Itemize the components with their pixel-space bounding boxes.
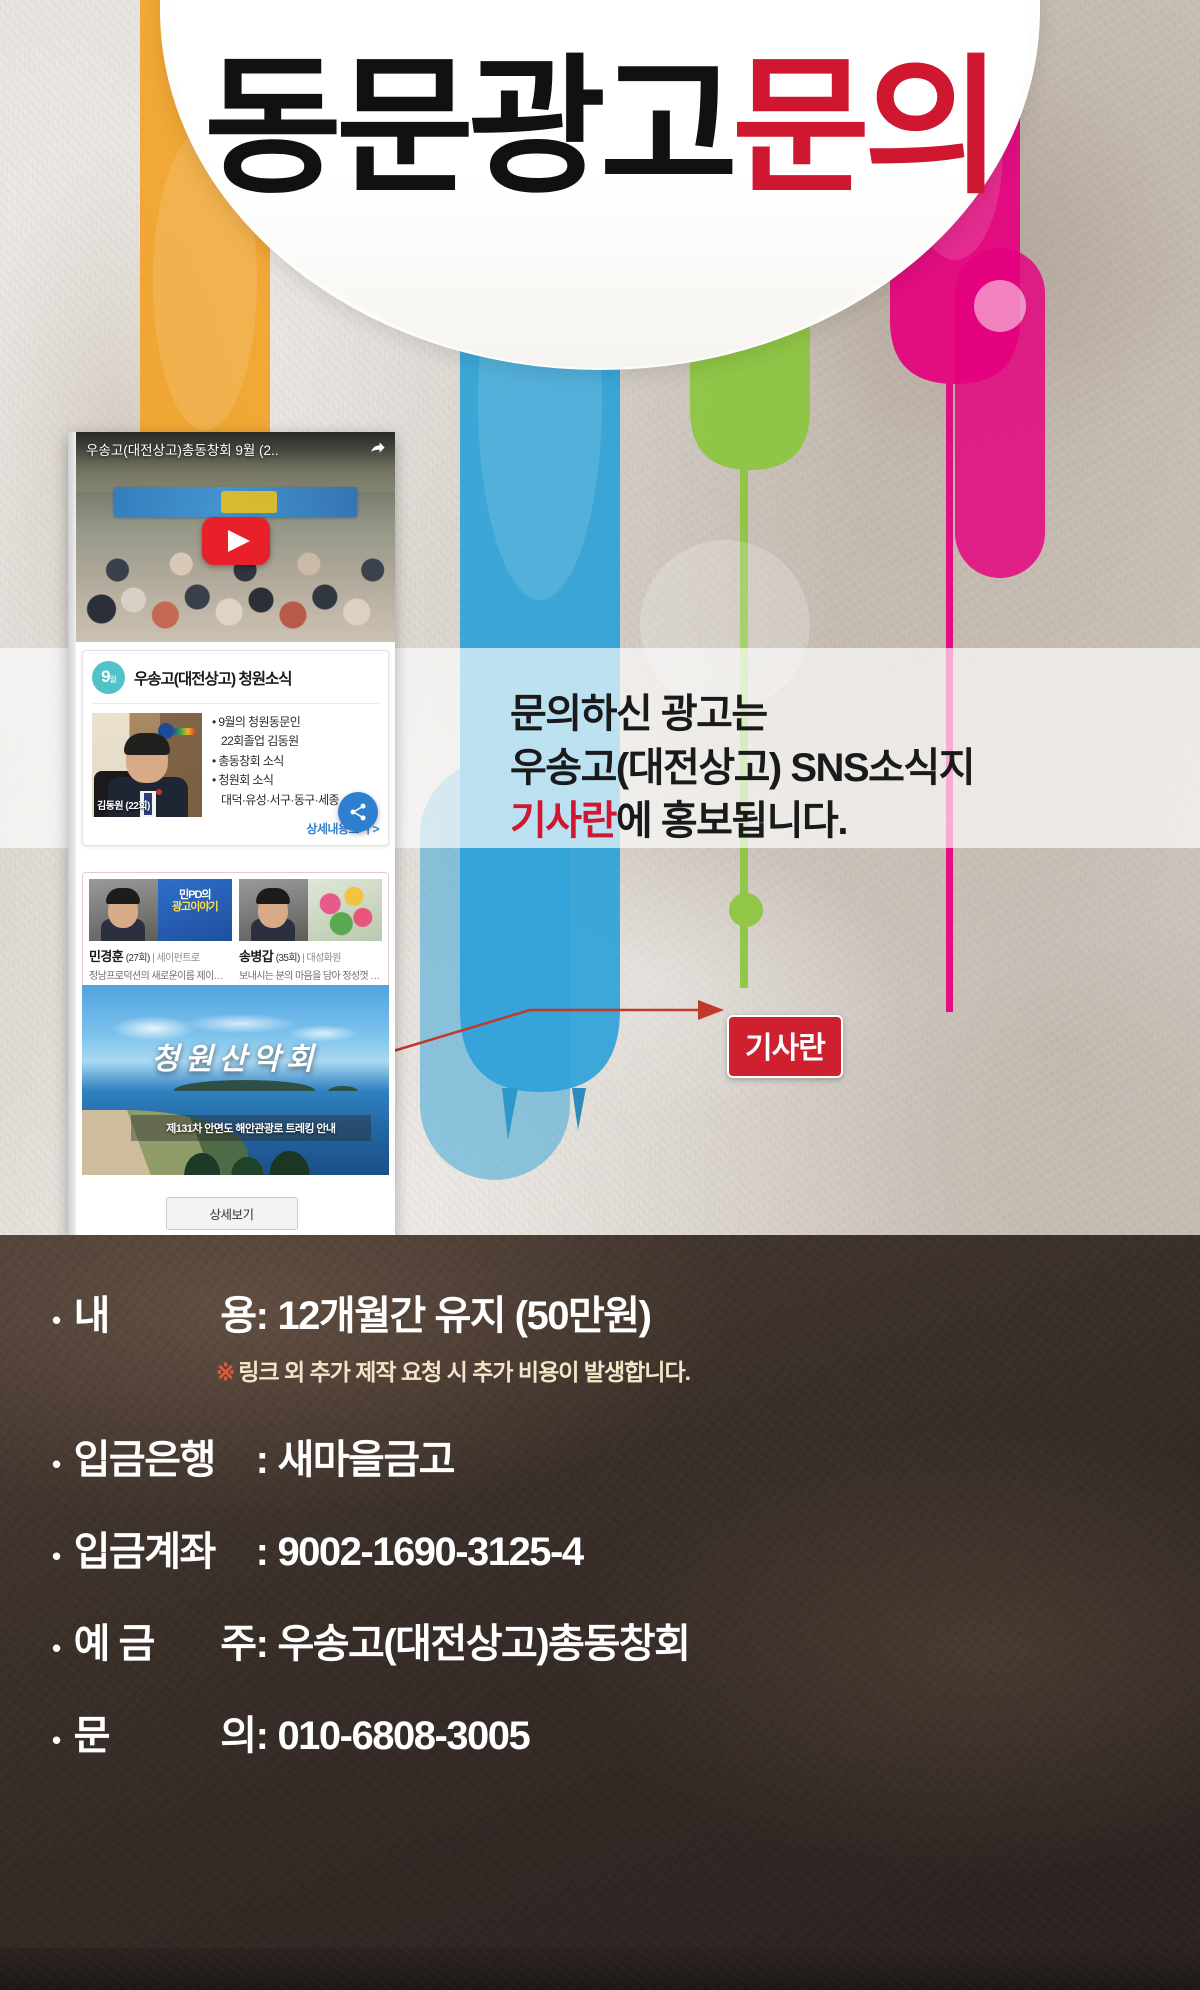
person-hair-shape	[106, 888, 140, 904]
lapel-pin-icon	[156, 789, 162, 795]
footer-info-list: • 내 용 : 12개월간 유지 (50만원) ※링크 외 추가 제작 요청 시…	[52, 1283, 1160, 1795]
video-stage-banner	[114, 487, 356, 517]
info-colon: :	[256, 1622, 268, 1667]
detail-view-button[interactable]: 상세보기	[166, 1197, 298, 1230]
more-link[interactable]: 상세내용보기 >	[92, 820, 379, 837]
share-arrow-icon	[369, 439, 386, 456]
person-name-line: 송병갑 (35회) | 대성화원	[239, 946, 382, 965]
info-value: 010-6808-3005	[277, 1714, 529, 1759]
info-colon: :	[256, 1530, 268, 1575]
share-icon[interactable]	[369, 439, 386, 456]
info-label-left: 입금은행	[74, 1427, 215, 1485]
info-colon: :	[256, 1714, 268, 1759]
info-value: 새마을금고	[277, 1427, 454, 1485]
list-item: 총동창회 소식	[212, 752, 379, 771]
info-colon: :	[256, 1438, 268, 1483]
bullet-dot-icon: •	[52, 1635, 60, 1661]
bullet-dot-icon: •	[52, 1543, 60, 1569]
info-row-contact: • 문 의 : 010-6808-3005	[52, 1703, 1160, 1761]
phone-edge	[68, 432, 76, 1242]
info-label: 내 용	[74, 1283, 256, 1341]
person-thumbnail: 민PD의 광고이야기	[89, 879, 232, 941]
headline-line-3: 기사란에 홍보됩니다.	[510, 795, 1150, 849]
portrait-photo: 김동원 (22회)	[92, 713, 202, 817]
list-item: 청원회 소식	[212, 771, 379, 790]
bullet-dot-icon: •	[52, 1307, 60, 1333]
bullet-dot-icon: •	[52, 1727, 60, 1753]
info-row-account: • 입금계좌 : 9002-1690-3125-4	[52, 1519, 1160, 1577]
mountain-club-title: 청원산악회	[82, 1034, 389, 1078]
office-logo-text-icon	[173, 728, 195, 735]
info-label-left: 문	[74, 1703, 109, 1761]
news-card-title: 우송고(대전상고) 청원소식	[134, 667, 292, 689]
info-row-content: • 내 용 : 12개월간 유지 (50만원)	[52, 1283, 1160, 1341]
phone-mockup: 우송고(대전상고)총동창회 9월 (2.. 9월 우송고(대전상고) 청원소식	[68, 432, 395, 1242]
flower-thumb-image	[308, 879, 382, 941]
info-label: 입금은행	[74, 1427, 256, 1485]
connector-arrow-icon	[380, 980, 740, 1060]
ad-banner-text: 민PD의 광고이야기	[158, 889, 232, 913]
person-name-line: 민경훈 (27회) | 세이펀트로	[89, 946, 232, 965]
person-name: 민경훈	[89, 949, 123, 964]
info-value: 9002-1690-3125-4	[277, 1530, 582, 1575]
info-value: 12개월간 유지 (50만원)	[277, 1283, 650, 1341]
person-org: | 세이펀트로	[152, 953, 199, 964]
portrait-caption: 김동원 (22회)	[97, 797, 150, 812]
info-label-right: 의	[220, 1703, 255, 1761]
person-org: | 대성화원	[302, 953, 341, 964]
headline-red-word: 기사란	[510, 799, 616, 843]
video-title: 우송고(대전상고)총동창회 9월 (2..	[76, 432, 395, 468]
share-fab-button[interactable]	[338, 792, 378, 832]
person-photo	[89, 879, 158, 941]
person-thumbnail	[239, 879, 382, 941]
share-nodes-icon	[348, 802, 368, 822]
info-label-left: 예 금	[74, 1611, 154, 1669]
headline-block: 문의하신 광고는 우송고(대전상고) SNS소식지 기사란에 홍보됩니다.	[510, 688, 1150, 849]
headline-line-1: 문의하신 광고는	[510, 688, 1150, 742]
month-unit: 월	[110, 674, 116, 685]
footer-note: ※링크 외 추가 제작 요청 시 추가 비용이 발생합니다.	[216, 1353, 1160, 1387]
list-item: 22회졸업 김동원	[212, 732, 379, 751]
people-card-row: 민PD의 광고이야기 민경훈 (27회) | 세이펀트로 정남프로덕션의 새로운…	[82, 872, 389, 989]
info-label-right: 용	[220, 1283, 255, 1341]
ad-banner-thumb: 민PD의 광고이야기	[158, 879, 232, 941]
person-card[interactable]: 민PD의 광고이야기 민경훈 (27회) | 세이펀트로 정남프로덕션의 새로운…	[89, 879, 232, 982]
strip-pill-icon	[955, 248, 1045, 578]
month-badge: 9월	[92, 661, 125, 694]
title-red-part: 문의	[732, 43, 996, 211]
video-thumbnail[interactable]: 우송고(대전상고)총동창회 9월 (2..	[76, 432, 395, 642]
info-value: 우송고(대전상고)총동창회	[277, 1611, 689, 1669]
person-card[interactable]: 송병갑 (35회) | 대성화원 보내시는 분의 마음을 담아 정성껏 배달…	[239, 879, 382, 982]
youtube-play-icon[interactable]	[202, 517, 270, 565]
list-item: 9월의 청원동문인	[212, 713, 379, 732]
hair-shape	[124, 733, 170, 755]
ad-banner-line1: 민PD의	[179, 889, 211, 901]
info-label-right: 주	[220, 1611, 255, 1669]
bullet-dot-icon: •	[52, 1451, 60, 1477]
info-label: 문 의	[74, 1703, 256, 1761]
month-number: 9	[101, 667, 109, 687]
mountain-club-banner[interactable]: 청원산악회 제131차 안면도 해안관광로 트레킹 안내	[82, 985, 389, 1175]
note-star-icon: ※	[216, 1359, 234, 1385]
person-class: (35회)	[276, 953, 300, 964]
info-label-left: 입금계좌	[74, 1519, 215, 1577]
info-label: 예 금 주	[74, 1611, 256, 1669]
info-colon: :	[256, 1294, 268, 1339]
callout-connector	[380, 980, 740, 1060]
person-photo	[239, 879, 308, 941]
note-text: 링크 외 추가 제작 요청 시 추가 비용이 발생합니다.	[238, 1359, 690, 1385]
news-card-body: 김동원 (22회) 9월의 청원동문인 22회졸업 김동원 총동창회 소식 청원…	[92, 703, 379, 817]
info-row-bank: • 입금은행 : 새마을금고	[52, 1427, 1160, 1485]
ad-banner-line2: 광고이야기	[172, 901, 218, 913]
info-label-left: 내	[74, 1283, 109, 1341]
person-hair-shape	[256, 888, 290, 904]
headline-line-2: 우송고(대전상고) SNS소식지	[510, 742, 1150, 796]
mountain-club-subtitle: 제131차 안면도 해안관광로 트레킹 안내	[131, 1115, 370, 1141]
person-desc: 보내시는 분의 마음을 담아 정성껏 배달…	[239, 967, 382, 982]
news-card-header: 9월 우송고(대전상고) 청원소식	[92, 661, 379, 703]
info-label: 입금계좌	[74, 1519, 256, 1577]
headline-line-3-rest: 에 홍보됩니다.	[616, 799, 847, 843]
person-class: (27회)	[126, 953, 150, 964]
status-badge: 기사란	[727, 1015, 843, 1078]
footer-bottom-strip	[0, 1948, 1200, 1990]
info-row-holder: • 예 금 주 : 우송고(대전상고)총동창회	[52, 1611, 1160, 1669]
page-title: 동문광고문의	[0, 52, 1200, 202]
person-name: 송병갑	[239, 949, 273, 964]
footer-panel: • 내 용 : 12개월간 유지 (50만원) ※링크 외 추가 제작 요청 시…	[0, 1235, 1200, 1990]
title-black-part: 동문광고	[204, 43, 732, 211]
poster-root: 동문광고문의 문의하신 광고는 우송고(대전상고) SNS소식지 기사란에 홍보…	[0, 0, 1200, 1990]
person-desc: 정남프로덕션의 새로운이름 제이엔프로…	[89, 967, 232, 982]
